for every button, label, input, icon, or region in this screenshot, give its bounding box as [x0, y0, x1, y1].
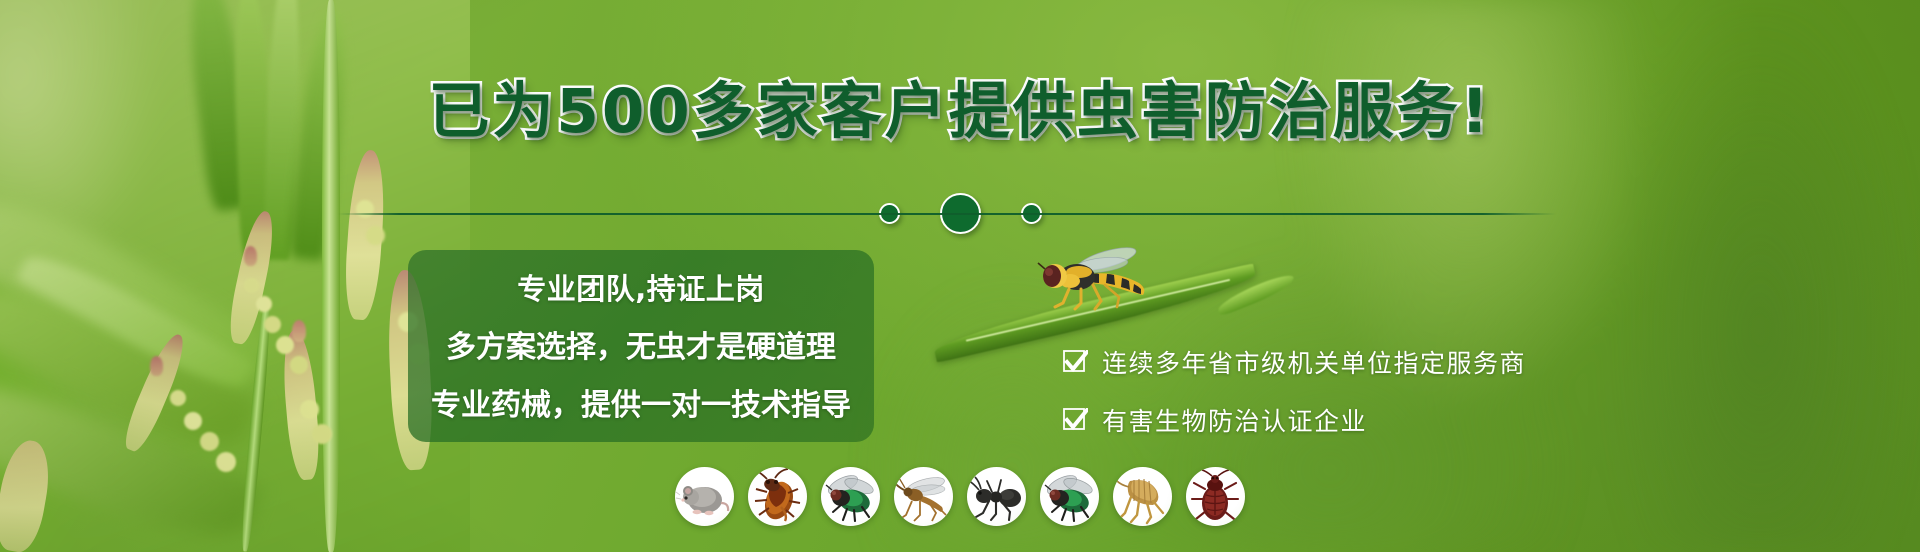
ant-icon[interactable]: [967, 467, 1026, 526]
pest-icon-strip: [675, 467, 1245, 526]
features-panel: 专业团队,持证上岗 多方案选择，无虫才是硬道理 专业药械，提供一对一技术指导: [408, 250, 874, 442]
flower-floret: [184, 412, 202, 430]
credential-label: 连续多年省市级机关单位指定服务商: [1102, 344, 1526, 380]
flower-floret: [256, 296, 272, 312]
bedbug-icon[interactable]: [1186, 467, 1245, 526]
flower-floret: [200, 432, 219, 451]
flower-floret: [264, 316, 281, 333]
hoverfly-illustration: [1035, 243, 1165, 313]
list-item: 有害生物防治认证企业: [1063, 394, 1526, 446]
mouse-icon[interactable]: [675, 467, 734, 526]
flower-floret: [244, 278, 259, 293]
check-box-icon: [1063, 350, 1088, 375]
page-title: 已为500多家客户提供虫害防治服务!: [0, 78, 1920, 146]
fly-icon[interactable]: [1040, 467, 1099, 526]
flea-icon[interactable]: [1113, 467, 1172, 526]
flower-floret: [150, 356, 163, 376]
flower-floret: [312, 424, 332, 444]
mosquito-icon[interactable]: [894, 467, 953, 526]
fly-icon[interactable]: [821, 467, 880, 526]
flower-floret: [216, 452, 236, 472]
flower-floret: [244, 246, 257, 266]
headline-text: 已为500多家客户提供虫害防治服务!: [428, 76, 1491, 147]
feature-line-2: 多方案选择，无虫才是硬道理: [408, 322, 874, 366]
check-box-icon: [1063, 408, 1088, 433]
credential-label: 有害生物防治认证企业: [1102, 402, 1367, 438]
flower-floret: [292, 320, 306, 342]
horizontal-divider: [338, 213, 1556, 215]
flower-floret: [300, 400, 319, 419]
flower-floret: [170, 390, 186, 406]
feature-line-1: 专业团队,持证上岗: [408, 266, 874, 308]
credentials-list: 连续多年省市级机关单位指定服务商 有害生物防治认证企业: [1063, 336, 1526, 446]
feature-line-3: 专业药械，提供一对一技术指导: [408, 380, 874, 424]
list-item: 连续多年省市级机关单位指定服务商: [1063, 336, 1526, 388]
pest-control-hero-banner: 已为500多家客户提供虫害防治服务! 专业团队,持证上岗 多方案选择，无虫才是硬…: [0, 0, 1920, 552]
flower-floret: [276, 336, 294, 354]
flower-floret: [290, 356, 308, 374]
cockroach-icon[interactable]: [748, 467, 807, 526]
